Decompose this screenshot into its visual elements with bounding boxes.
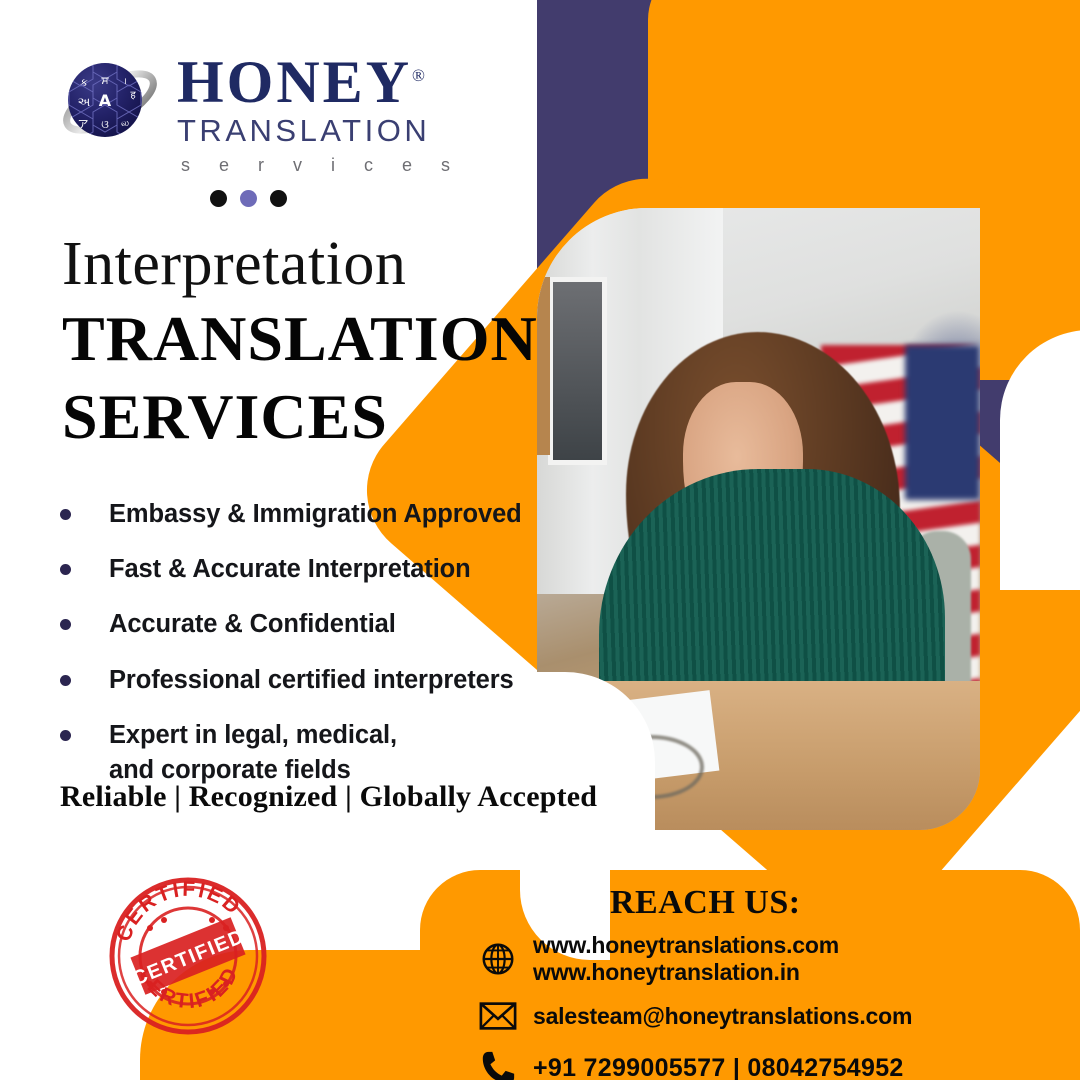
svg-text:ல: ல	[121, 118, 129, 129]
brand-logo: A અ ક ਸ । ह ア ଓ ல HONEY® TRANSLATION s e…	[55, 48, 462, 176]
svg-text:ਸ: ਸ	[100, 74, 109, 87]
contact-email-text: salesteam@honeytranslations.com	[533, 1003, 912, 1030]
contact-website-text: www.honeytranslations.com www.honeytrans…	[533, 932, 839, 986]
feature-text: Accurate & Confidential	[109, 607, 396, 642]
feature-text: Professional certified interpreters	[109, 663, 514, 698]
contact-row-website[interactable]: www.honeytranslations.com www.honeytrans…	[475, 932, 912, 986]
contact-panel-title: REACH US:	[610, 884, 801, 922]
svg-text:અ: અ	[78, 95, 91, 109]
list-item: Expert in legal, medical, and corporate …	[52, 718, 522, 788]
headline-bold-line-2: SERVICES	[62, 381, 538, 453]
globe-icon	[475, 937, 521, 981]
headline-bold-line-1: TRANSLATION	[62, 303, 538, 375]
feature-text: Fast & Accurate Interpretation	[109, 552, 471, 587]
website-line-1: www.honeytranslations.com	[533, 932, 839, 958]
dot-1	[210, 190, 227, 207]
brand-name-third: s e r v i c e s	[177, 155, 462, 176]
feature-list: Embassy & Immigration Approved Fast & Ac…	[52, 497, 522, 808]
contact-list: www.honeytranslations.com www.honeytrans…	[475, 932, 912, 1080]
tagline: Reliable | Recognized | Globally Accepte…	[60, 780, 597, 814]
contact-panel-main-shape: REACH US: www.honeytr	[420, 870, 1080, 1080]
svg-text:ଓ: ଓ	[101, 118, 109, 131]
contact-phone-text: +91 7299005577 | 08042754952	[533, 1054, 904, 1080]
list-item: Fast & Accurate Interpretation	[52, 552, 522, 587]
hero-photo	[537, 208, 980, 830]
dot-2	[240, 190, 257, 207]
certified-stamp-icon: CERTIFIED CERTIFIED CERTIFIED	[104, 872, 272, 1040]
list-item: Embassy & Immigration Approved	[52, 497, 522, 532]
brand-wordmark: HONEY® TRANSLATION s e r v i c e s	[177, 48, 462, 176]
svg-text:।: ।	[123, 77, 126, 87]
envelope-icon	[475, 994, 521, 1038]
registered-mark: ®	[412, 66, 425, 85]
contact-panel: REACH US: www.honeytr	[140, 870, 1080, 1080]
decorative-dots	[210, 190, 287, 207]
contact-row-phone[interactable]: +91 7299005577 | 08042754952	[475, 1046, 912, 1080]
phone-icon	[475, 1046, 521, 1080]
dot-3	[270, 190, 287, 207]
svg-text:ક: ક	[80, 76, 88, 89]
list-item: Professional certified interpreters	[52, 663, 522, 698]
bullet-dot-icon	[60, 564, 71, 575]
poster-canvas: A અ ક ਸ । ह ア ଓ ல HONEY® TRANSLATION s e…	[0, 0, 1080, 1080]
feature-text: Expert in legal, medical, and corporate …	[109, 718, 449, 788]
photo-flag-canton	[905, 345, 980, 501]
brand-name-main: HONEY®	[177, 54, 425, 111]
bullet-dot-icon	[60, 675, 71, 686]
list-item: Accurate & Confidential	[52, 607, 522, 642]
bullet-dot-icon	[60, 619, 71, 630]
bullet-dot-icon	[60, 509, 71, 520]
headline-block: Interpretation TRANSLATION SERVICES	[62, 232, 538, 452]
headline-script-line: Interpretation	[62, 232, 538, 297]
bullet-dot-icon	[60, 730, 71, 741]
svg-text:A: A	[99, 91, 112, 110]
website-line-2: www.honeytranslation.in	[533, 959, 800, 985]
svg-text:ह: ह	[130, 90, 136, 101]
feature-text: Embassy & Immigration Approved	[109, 497, 522, 532]
contact-row-email[interactable]: salesteam@honeytranslations.com	[475, 994, 912, 1038]
globe-languages-icon: A અ ક ਸ । ह ア ଓ ல	[55, 48, 165, 158]
brand-name-second: TRANSLATION	[177, 113, 462, 149]
brand-name-main-text: HONEY	[177, 49, 412, 115]
